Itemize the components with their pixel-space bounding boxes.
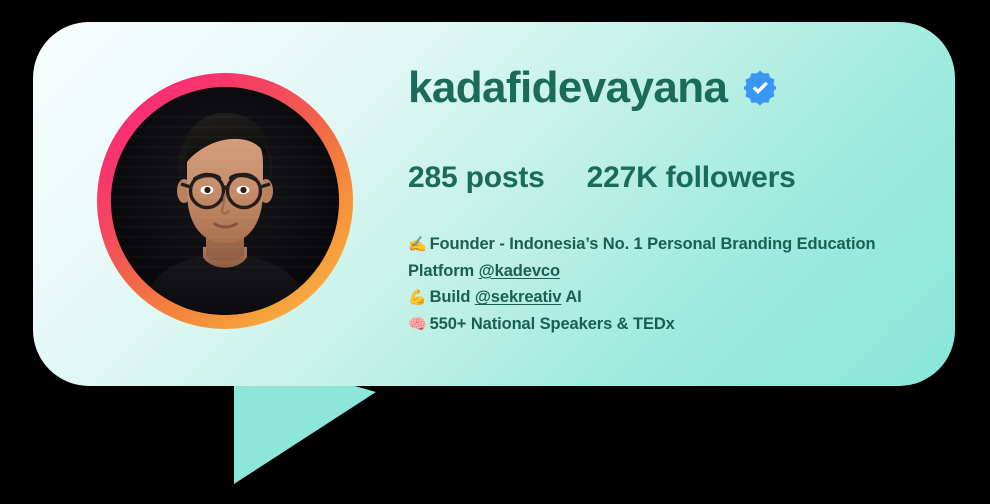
bio-mention-link[interactable]: @kadevco [479, 262, 560, 280]
writing-hand-icon: ✍️ [408, 235, 427, 253]
screenshot-stage: kadafidevayana 285 posts 227K followers [0, 0, 990, 504]
avatar-story-ring[interactable] [97, 73, 353, 329]
bio-text: AI [561, 288, 581, 306]
bio-text: 550+ National Speakers & TEDx [430, 315, 675, 333]
bio-text: Build [430, 288, 475, 306]
profile-details: kadafidevayana 285 posts 227K followers [408, 57, 928, 338]
bio-line: 💪Build @sekreativ AI [408, 284, 878, 311]
stats-row: 285 posts 227K followers [408, 161, 928, 195]
followers-count[interactable]: 227K followers [587, 161, 796, 195]
bio: ✍️Founder - Indonesia’s No. 1 Personal B… [408, 231, 878, 338]
posts-count[interactable]: 285 posts [408, 161, 545, 195]
avatar[interactable] [111, 87, 339, 315]
brain-icon: 🧠 [408, 315, 427, 333]
profile-speech-bubble: kadafidevayana 285 posts 227K followers [33, 22, 955, 386]
username-row: kadafidevayana [408, 57, 928, 119]
bio-line: ✍️Founder - Indonesia’s No. 1 Personal B… [408, 231, 878, 284]
flexed-biceps-icon: 💪 [408, 288, 427, 306]
verified-badge-icon [741, 69, 779, 107]
bio-mention-link[interactable]: @sekreativ [475, 288, 562, 306]
profile-card: kadafidevayana 285 posts 227K followers [33, 22, 955, 386]
username[interactable]: kadafidevayana [408, 66, 727, 110]
bio-line: 🧠550+ National Speakers & TEDx [408, 311, 878, 338]
